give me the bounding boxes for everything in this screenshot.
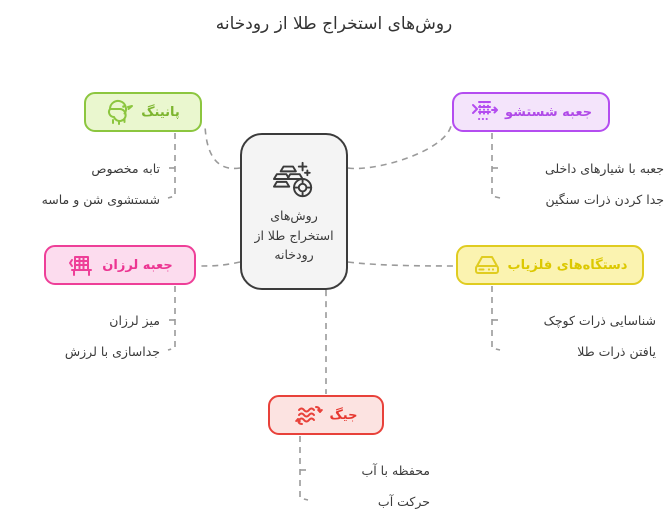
leaf-wash-box-1: جعبه با شیارهای داخلی: [500, 161, 664, 176]
shaking-table-icon: [67, 251, 95, 279]
leaf-wash-box-2: جدا کردن ذرات سنگین: [506, 192, 664, 207]
branch-node-jig[interactable]: جیگ: [268, 395, 384, 435]
branch-node-wash-box[interactable]: جعبه شستشو: [452, 92, 610, 132]
connector-center-sluicebox: [197, 262, 240, 266]
leaf-panning-1: تابه مخصوص: [20, 161, 160, 176]
page-title: روش‌های استخراج طلا از رودخانه: [0, 12, 668, 37]
branch-node-metal-detectors[interactable]: دستگاه‌های فلزیاب: [456, 245, 644, 285]
gold-bars-chip-icon: [271, 158, 317, 200]
center-label-line-2: استخراج طلا از: [254, 226, 333, 245]
connector-center-washbox: [348, 126, 451, 169]
leaf-metal-detectors-2: یافتن ذرات طلا: [524, 344, 656, 359]
connector-detectors-leaves: [492, 286, 500, 350]
connector-center-panning: [205, 125, 240, 168]
leaf-jig-1: محفظه با آب: [310, 463, 430, 478]
connector-jig-leaves: [300, 436, 308, 500]
center-label-line-1: روش‌های: [254, 206, 333, 225]
branch-label-panning: پانینگ: [141, 105, 180, 120]
connector-center-detectors: [348, 262, 455, 266]
center-node-label: روش‌های استخراج طلا از رودخانه: [250, 206, 337, 264]
metal-detector-device-icon: [473, 251, 501, 279]
branch-label-jig: جیگ: [330, 408, 358, 423]
leaf-sluice-box-1: میز لرزان: [36, 313, 160, 328]
gold-pan-icon: [106, 98, 134, 126]
mindmap-canvas: روش‌های استخراج طلا از رودخانه: [0, 0, 668, 521]
center-label-line-3: رودخانه: [254, 245, 333, 264]
connector-washbox-leaves: [492, 133, 500, 198]
branch-node-panning[interactable]: پانینگ: [84, 92, 202, 132]
filter-flow-icon: [470, 98, 498, 126]
leaf-jig-2: حرکت آب: [316, 494, 430, 509]
connector-panning-leaves: [168, 133, 175, 198]
water-waves-icon: [295, 401, 323, 429]
leaf-metal-detectors-1: شناسایی ذرات کوچک: [500, 313, 656, 328]
branch-label-wash-box: جعبه شستشو: [505, 105, 592, 120]
branch-node-sluice-box[interactable]: جعبه لرزان: [44, 245, 196, 285]
center-node[interactable]: روش‌های استخراج طلا از رودخانه: [240, 133, 348, 290]
branch-label-sluice-box: جعبه لرزان: [102, 258, 172, 273]
leaf-sluice-box-2: جداسازی با لرزش: [14, 344, 160, 359]
connector-sluicebox-leaves: [168, 286, 175, 350]
branch-label-metal-detectors: دستگاه‌های فلزیاب: [508, 258, 628, 273]
leaf-panning-2: شستشوی شن و ماسه: [6, 192, 160, 207]
